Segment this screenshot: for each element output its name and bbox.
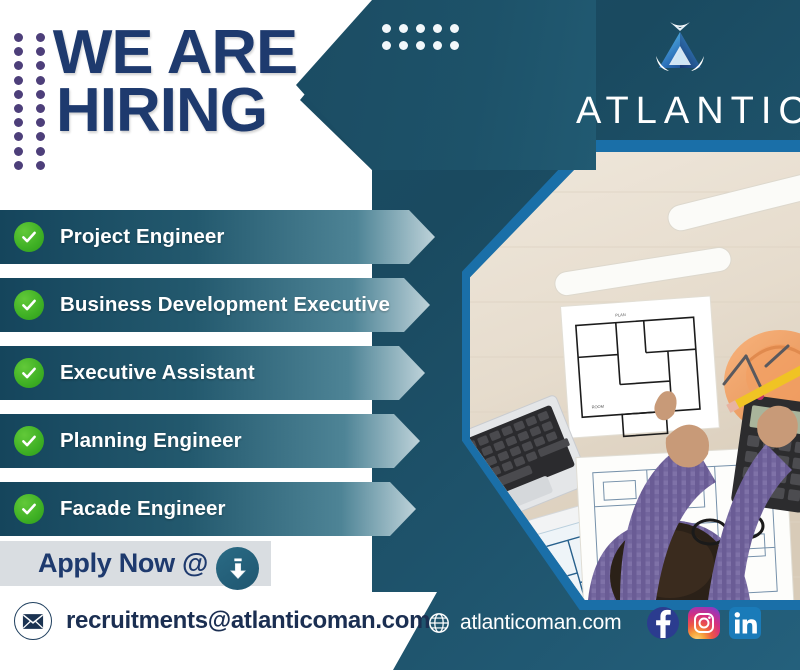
list-item[interactable]: Business Development Executive — [0, 278, 440, 332]
headline-line-1: WE ARE — [53, 24, 390, 82]
social-links — [647, 607, 761, 639]
facebook-icon[interactable] — [647, 607, 679, 639]
brand-logo: ATLANTIC — [570, 16, 790, 133]
svg-text:ROOM: ROOM — [591, 404, 604, 410]
headline-line-2: HIRING — [56, 82, 386, 140]
job-list: Project Engineer Business Development Ex… — [0, 210, 440, 550]
job-title: Planning Engineer — [60, 429, 242, 453]
job-title: Project Engineer — [60, 225, 225, 249]
purple-dot-grid — [14, 33, 58, 175]
check-circle-icon — [14, 290, 44, 320]
atlantic-prism-icon — [644, 16, 716, 88]
website-url: atlanticoman.com — [460, 611, 621, 635]
footer: atlanticoman.com — [428, 607, 761, 639]
globe-icon — [428, 612, 450, 634]
brand-name: ATLANTIC — [570, 90, 790, 133]
svg-text:PLAN: PLAN — [615, 312, 626, 318]
email-address: recruitments@atlanticoman.com — [66, 607, 430, 635]
linkedin-icon[interactable] — [729, 607, 761, 639]
list-item[interactable]: Executive Assistant — [0, 346, 440, 400]
list-item[interactable]: Planning Engineer — [0, 414, 440, 468]
apply-now-label: Apply Now @ — [38, 548, 208, 579]
instagram-icon[interactable] — [688, 607, 720, 639]
page-title: WE ARE HIRING — [56, 24, 386, 139]
hiring-poster: PLANROOM — [0, 0, 800, 670]
check-circle-icon — [14, 222, 44, 252]
job-title: Executive Assistant — [60, 361, 255, 385]
job-title: Facade Engineer — [60, 497, 226, 521]
list-item[interactable]: Project Engineer — [0, 210, 440, 264]
email-contact[interactable]: recruitments@atlanticoman.com — [14, 602, 430, 640]
check-circle-icon — [14, 494, 44, 524]
download-arrow-icon[interactable] — [216, 547, 259, 590]
list-item[interactable]: Facade Engineer — [0, 482, 440, 536]
job-title: Business Development Executive — [60, 293, 390, 317]
check-circle-icon — [14, 426, 44, 456]
white-dot-grid — [382, 24, 467, 58]
envelope-icon — [14, 602, 52, 640]
check-circle-icon — [14, 358, 44, 388]
